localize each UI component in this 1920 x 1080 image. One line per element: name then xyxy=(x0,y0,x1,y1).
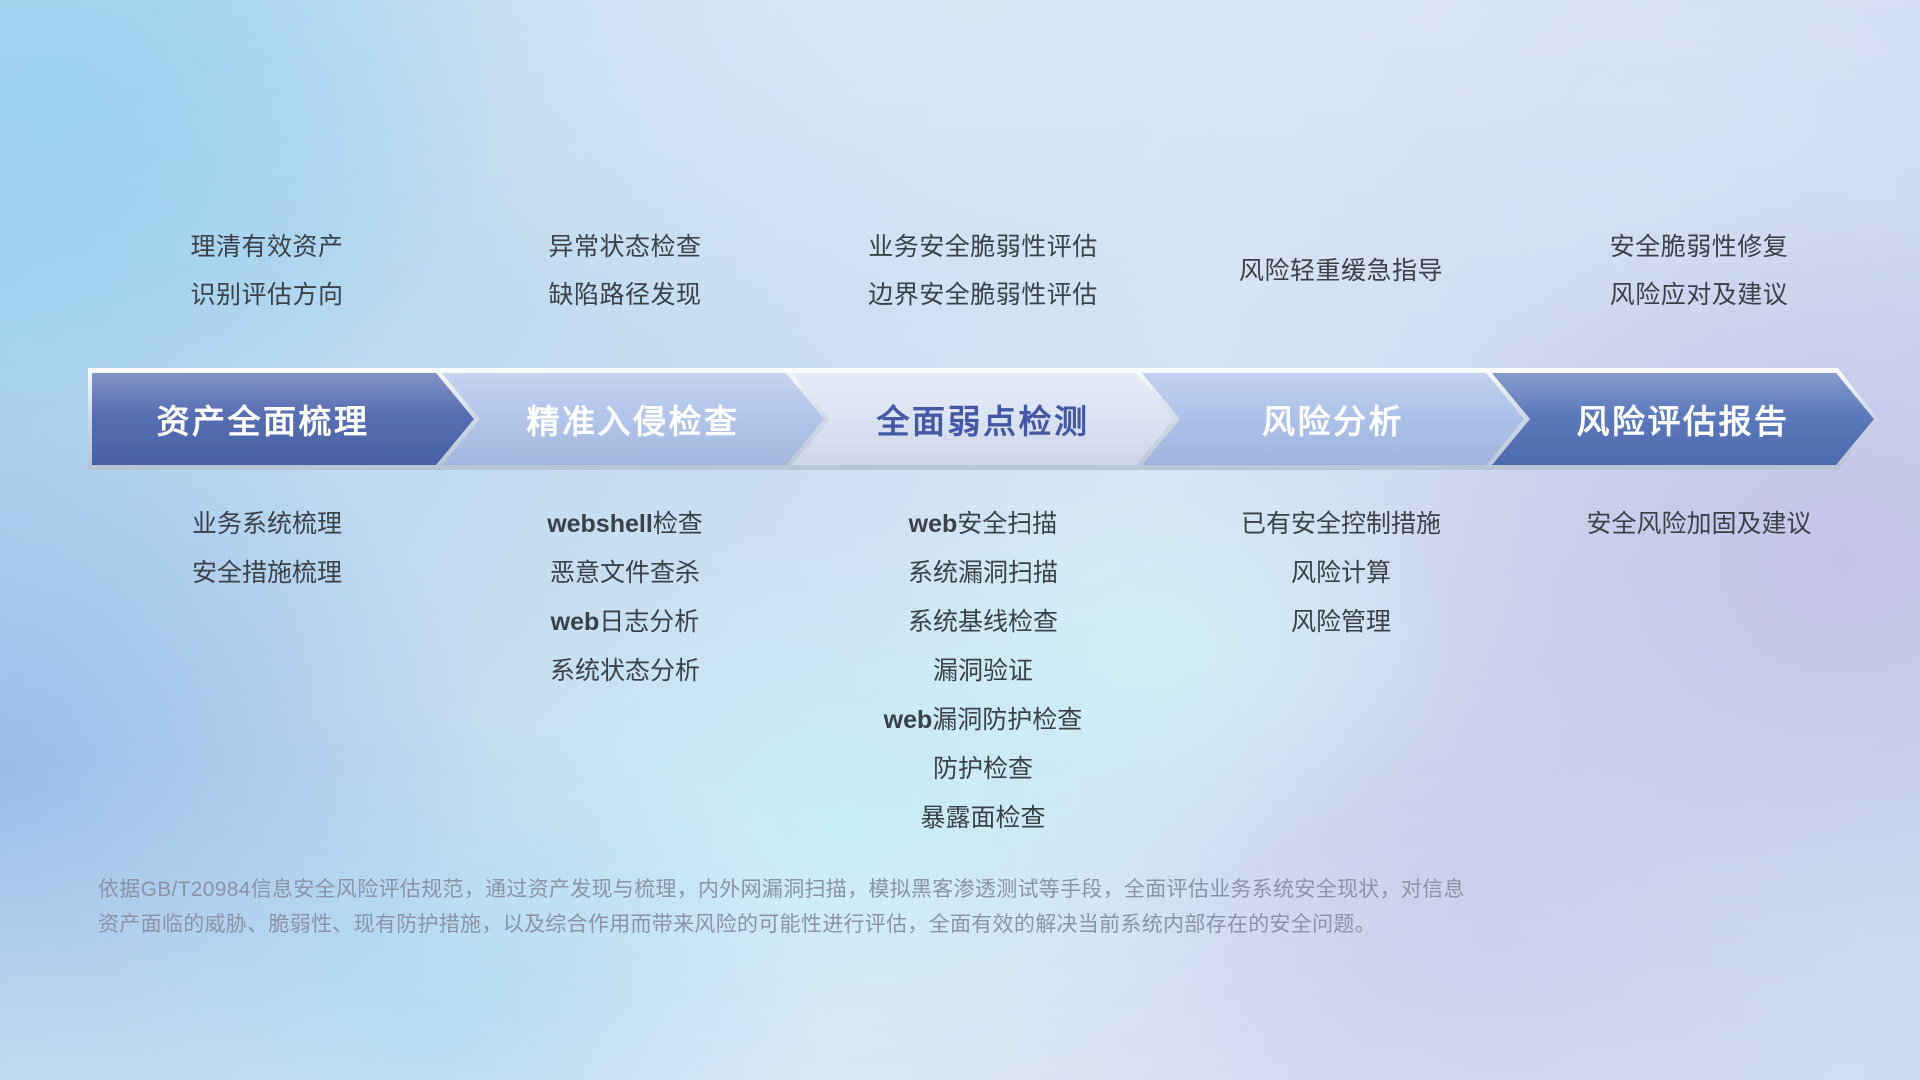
bottom-label-cjk: 风险管理 xyxy=(1291,608,1391,636)
bottom-label-cjk: 暴露面检查 xyxy=(920,804,1045,832)
bottom-label: web安全扫描 xyxy=(804,500,1162,549)
top-label: 风险应对及建议 xyxy=(1520,271,1878,319)
diagram-stage: 理清有效资产识别评估方向异常状态检查缺陷路径发现业务安全脆弱性评估边界安全脆弱性… xyxy=(0,0,1920,1080)
bottom-label-cjk: 系统状态分析 xyxy=(550,657,700,685)
bottom-label-cjk: 漏洞验证 xyxy=(933,657,1033,685)
bottom-label-group-intrusion-check: webshell检查恶意文件查杀web日志分析系统状态分析 xyxy=(446,500,804,696)
bottom-label-latin: web xyxy=(884,706,933,734)
bottom-label-cjk: 业务系统梳理 xyxy=(192,510,342,538)
top-label: 异常状态检查 xyxy=(446,223,804,271)
bottom-label: 已有安全控制措施 xyxy=(1162,500,1520,549)
bottom-label-group-weakness-detection: web安全扫描系统漏洞扫描系统基线检查漏洞验证web漏洞防护检查防护检查暴露面检… xyxy=(804,500,1162,843)
top-label-group-intrusion-check: 异常状态检查缺陷路径发现 xyxy=(446,228,804,314)
bottom-label-cjk: 日志分析 xyxy=(599,608,699,636)
bottom-label-group-risk-report: 安全风险加固及建议 xyxy=(1520,500,1878,549)
bottom-label: web漏洞防护检查 xyxy=(804,696,1162,745)
bottom-label: 系统基线检查 xyxy=(804,598,1162,647)
bottom-label-latin: web xyxy=(551,608,600,636)
bottom-label: 恶意文件查杀 xyxy=(446,549,804,598)
bottom-label-latin: webshell xyxy=(547,510,653,538)
bottom-label: 业务系统梳理 xyxy=(88,500,446,549)
chevron-gloss-risk-report xyxy=(1492,373,1874,465)
chevron-gloss-intrusion-check xyxy=(442,373,824,465)
chevron-svg xyxy=(88,368,1878,470)
bottom-label-latin: web xyxy=(909,510,958,538)
chevron-gloss-risk-analysis xyxy=(1142,373,1524,465)
top-label: 风险轻重缓急指导 xyxy=(1162,247,1520,295)
bottom-label-cjk: 系统基线检查 xyxy=(908,608,1058,636)
top-labels-row: 理清有效资产识别评估方向异常状态检查缺陷路径发现业务安全脆弱性评估边界安全脆弱性… xyxy=(88,228,1878,338)
bottom-label-cjk: 安全扫描 xyxy=(957,510,1057,538)
top-label: 边界安全脆弱性评估 xyxy=(804,271,1162,319)
top-label: 识别评估方向 xyxy=(88,271,446,319)
footer-line-1: 依据GB/T20984信息安全风险评估规范，通过资产发现与梳理，内外网漏洞扫描，… xyxy=(98,872,1638,907)
bottom-label: 风险管理 xyxy=(1162,598,1520,647)
bottom-label-group-asset-inventory: 业务系统梳理安全措施梳理 xyxy=(88,500,446,598)
bottom-label-cjk: 漏洞防护检查 xyxy=(932,706,1082,734)
bottom-label-cjk: 系统漏洞扫描 xyxy=(908,559,1058,587)
bottom-label: web日志分析 xyxy=(446,598,804,647)
bottom-label: 防护检查 xyxy=(804,745,1162,794)
bottom-label: 系统漏洞扫描 xyxy=(804,549,1162,598)
bottom-label: 暴露面检查 xyxy=(804,794,1162,843)
bottom-label: 漏洞验证 xyxy=(804,647,1162,696)
top-label-group-asset-inventory: 理清有效资产识别评估方向 xyxy=(88,228,446,314)
bottom-label-cjk: 检查 xyxy=(653,510,703,538)
chevron-gloss-weakness-detection xyxy=(792,373,1174,465)
bottom-label: 安全风险加固及建议 xyxy=(1520,500,1878,549)
top-label: 业务安全脆弱性评估 xyxy=(804,223,1162,271)
bottom-label-cjk: 安全措施梳理 xyxy=(192,559,342,587)
footer-description: 依据GB/T20984信息安全风险评估规范，通过资产发现与梳理，内外网漏洞扫描，… xyxy=(98,872,1638,942)
bottom-label-cjk: 已有安全控制措施 xyxy=(1241,510,1441,538)
top-label: 安全脆弱性修复 xyxy=(1520,223,1878,271)
top-label-group-weakness-detection: 业务安全脆弱性评估边界安全脆弱性评估 xyxy=(804,228,1162,314)
bottom-label: webshell检查 xyxy=(446,500,804,549)
footer-line-2: 资产面临的威胁、脆弱性、现有防护措施，以及综合作用而带来风险的可能性进行评估，全… xyxy=(98,907,1638,942)
bottom-label: 系统状态分析 xyxy=(446,647,804,696)
top-label: 缺陷路径发现 xyxy=(446,271,804,319)
top-label: 理清有效资产 xyxy=(88,223,446,271)
bottom-label-cjk: 恶意文件查杀 xyxy=(550,559,700,587)
bottom-label-cjk: 安全风险加固及建议 xyxy=(1586,510,1811,538)
process-chevron-band: 资产全面梳理精准入侵检查全面弱点检测风险分析风险评估报告 xyxy=(88,368,1878,470)
bottom-label: 风险计算 xyxy=(1162,549,1520,598)
top-label-group-risk-analysis: 风险轻重缓急指导 xyxy=(1162,228,1520,314)
bottom-labels-row: 业务系统梳理安全措施梳理webshell检查恶意文件查杀web日志分析系统状态分… xyxy=(88,500,1878,843)
chevron-gloss-asset-inventory xyxy=(92,373,474,465)
top-label-group-risk-report: 安全脆弱性修复风险应对及建议 xyxy=(1520,228,1878,314)
bottom-label-cjk: 防护检查 xyxy=(933,755,1033,783)
bottom-label-group-risk-analysis: 已有安全控制措施风险计算风险管理 xyxy=(1162,500,1520,647)
bottom-label: 安全措施梳理 xyxy=(88,549,446,598)
bottom-label-cjk: 风险计算 xyxy=(1291,559,1391,587)
